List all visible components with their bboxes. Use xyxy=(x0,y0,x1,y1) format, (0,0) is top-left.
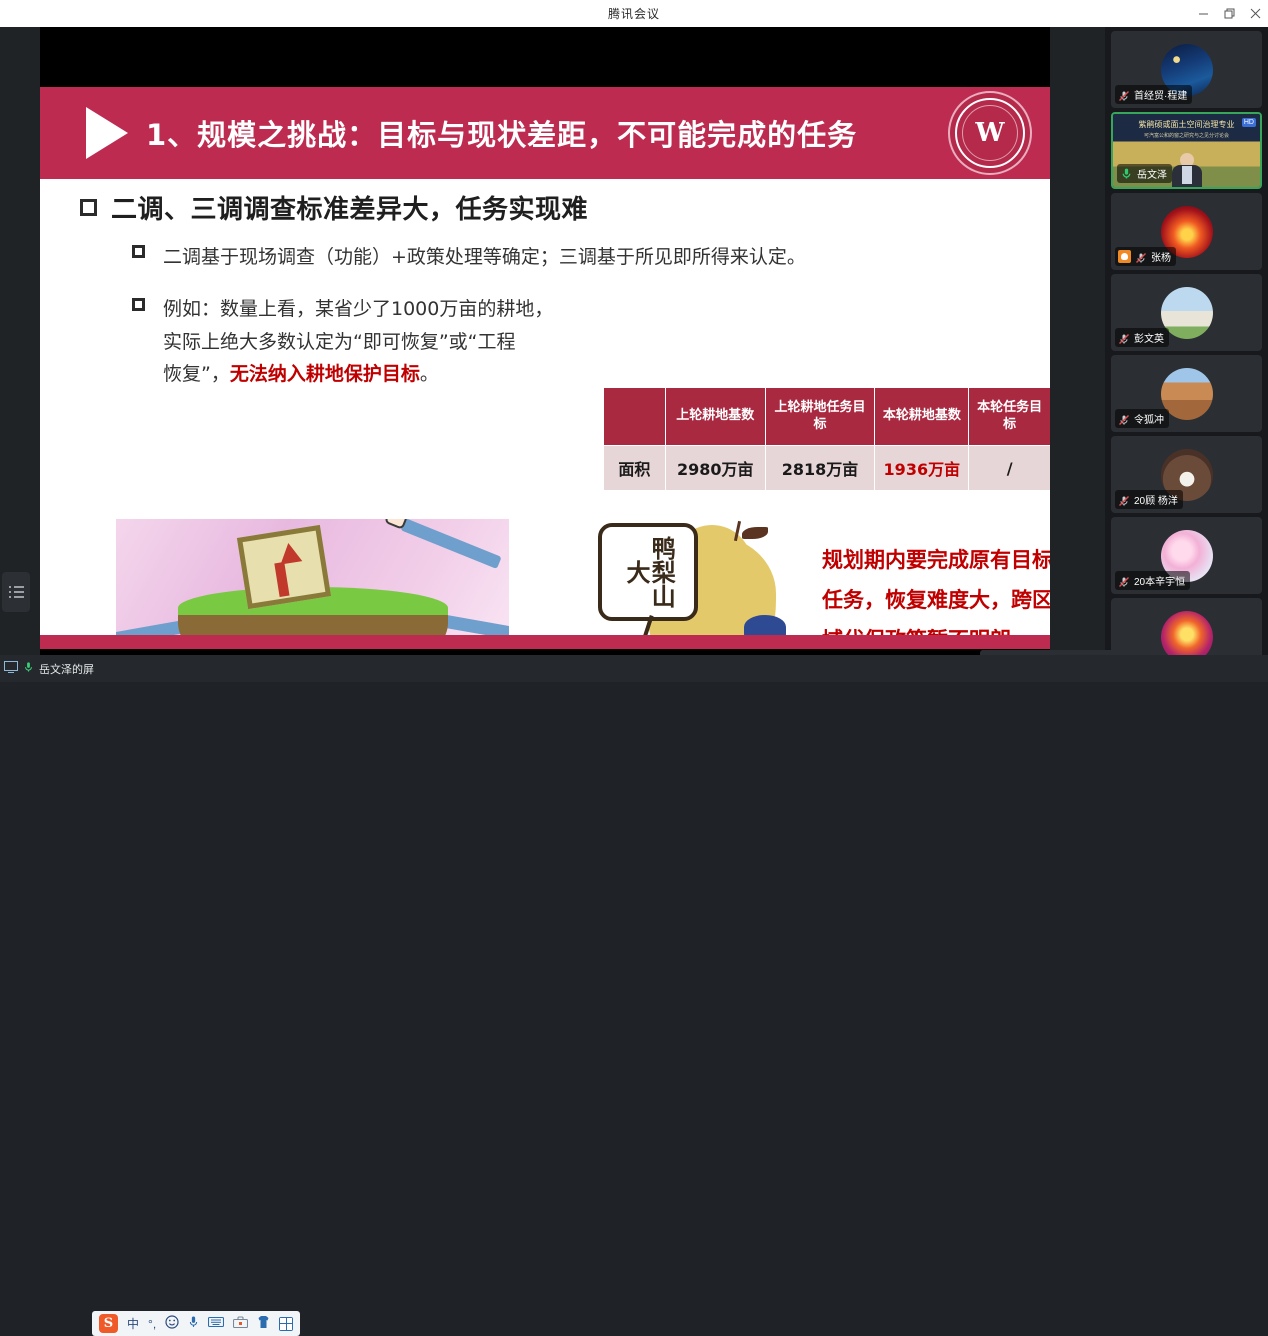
ime-voice-icon[interactable] xyxy=(188,1315,199,1332)
participant-name: 首经贸·程建 xyxy=(1134,87,1187,102)
ime-toolbox-icon[interactable] xyxy=(233,1316,248,1331)
participant-tile[interactable]: 20本辛宇恒 xyxy=(1111,517,1262,594)
ime-keyboard-icon[interactable] xyxy=(208,1316,224,1331)
minimize-icon[interactable] xyxy=(1190,0,1216,27)
window-controls xyxy=(1190,0,1268,27)
participant-nametag: 令狐冲 xyxy=(1115,409,1169,428)
mic-muted-icon xyxy=(1118,89,1130,101)
bullet-2-line-3-prefix: 恢复”， xyxy=(163,363,230,385)
table-cell-value-1: 2818万亩 xyxy=(765,446,875,491)
sogou-logo-icon[interactable]: S xyxy=(99,1314,118,1333)
participant-nametag: 20顾 杨洋 xyxy=(1115,490,1183,509)
arm-icon xyxy=(400,519,501,569)
panel-toggle-button[interactable] xyxy=(2,572,30,612)
table-header-row: 上轮耕地基数 上轮耕地任务目标 本轮耕地基数 本轮任务目标 xyxy=(604,388,1051,446)
monitor-icon xyxy=(4,661,18,676)
slide-title: 1、规模之挑战：目标与现状差距，不可能完成的任务 xyxy=(146,112,857,154)
participant-name: 20本辛宇恒 xyxy=(1134,573,1185,588)
mic-on-icon xyxy=(1120,167,1133,180)
table-header-cell-3: 本轮耕地基数 xyxy=(875,388,969,446)
participant-tile[interactable]: 彭文英 xyxy=(1111,274,1262,351)
slide-body: 二调、三调调查标准差异大，任务实现难 二调基于现场调查（功能）+政策处理等确定；… xyxy=(40,179,1050,649)
play-triangle-icon xyxy=(86,107,128,159)
table-cell-value-0: 2980万亩 xyxy=(665,446,765,491)
table-header-cell-4: 本轮任务目标 xyxy=(969,388,1050,446)
bullet-2-line-2: 实际上绝大多数认定为“即可恢复”或“工程 xyxy=(163,331,516,353)
app-title: 腾讯会议 xyxy=(608,5,660,22)
participant-name: 令狐冲 xyxy=(1134,411,1164,426)
participant-name: 彭文英 xyxy=(1134,330,1164,345)
speech-bubble: 鸭梨山大 xyxy=(598,523,698,621)
window-title-bar: 腾讯会议 xyxy=(0,0,1268,27)
slide-heading: 二调、三调调查标准差异大，任务实现难 xyxy=(80,189,588,226)
slide-header: 1、规模之挑战：目标与现状差距，不可能完成的任务 W xyxy=(40,87,1050,179)
participant-name: 20顾 杨洋 xyxy=(1134,492,1178,507)
participant-tile[interactable] xyxy=(1111,598,1262,655)
ime-mode-button[interactable]: 中 xyxy=(127,1315,139,1332)
participant-nametag: 20本辛宇恒 xyxy=(1115,571,1190,590)
speech-bubble-text: 鸭梨山大 xyxy=(623,535,673,609)
mic-muted-icon xyxy=(1118,494,1130,506)
video-overlay-subtitle: 可汽富公和的窗之研究与之见分讨论会 xyxy=(1113,132,1260,139)
mic-muted-icon xyxy=(1118,413,1130,425)
video-quality-badge: HD xyxy=(1242,118,1256,127)
emblem-mark: W xyxy=(975,120,1004,146)
bullet-item-1: 二调基于现场调查（功能）+政策处理等确定；三调基于所见即所得来认定。 xyxy=(132,245,806,271)
list-icon xyxy=(9,583,24,601)
ime-emoji-icon[interactable] xyxy=(165,1315,179,1332)
land-survey-cartoon: 土地调查 xyxy=(116,519,509,649)
participant-tile[interactable]: 张杨 xyxy=(1111,193,1262,270)
participant-name: 张杨 xyxy=(1151,249,1171,264)
participant-nametag: 岳文泽 xyxy=(1117,164,1172,183)
table-cell-value-2: 1936万亩 xyxy=(875,446,969,491)
callout-line-1: 规划期内要完成原有目标 xyxy=(822,541,1050,581)
table-row: 面积 2980万亩 2818万亩 1936万亩 / xyxy=(604,446,1051,491)
ime-punctuation-button[interactable]: °, xyxy=(148,1317,156,1331)
ime-toolbar[interactable]: S 中 °, xyxy=(92,1311,300,1336)
participant-nametag: 张杨 xyxy=(1115,247,1176,266)
host-badge-icon xyxy=(1118,250,1131,263)
comparison-table: 上轮耕地基数 上轮耕地任务目标 本轮耕地基数 本轮任务目标 面积 2980万亩 … xyxy=(603,387,1050,491)
table-header-cell-2: 上轮耕地任务目标 xyxy=(765,388,875,446)
square-bullet-icon xyxy=(132,245,145,258)
video-overlay-title: 紫鹃硕或面土空间治理专业 xyxy=(1113,119,1260,130)
bullet-2-line-1: 例如：数量上看，某省少了1000万亩的耕地， xyxy=(163,298,553,320)
presentation-slide: 1、规模之挑战：目标与现状差距，不可能完成的任务 W 二调、三调调查标准差异大，… xyxy=(40,87,1050,649)
participant-tile-active-speaker[interactable]: 紫鹃硕或面土空间治理专业 可汽富公和的窗之研究与之见分讨论会 HD 岳文泽 xyxy=(1111,112,1262,189)
survey-board-icon xyxy=(237,525,331,609)
participant-nametag: 首经贸·程建 xyxy=(1115,85,1192,104)
participant-tile[interactable]: 20顾 杨洋 xyxy=(1111,436,1262,513)
slide-heading-text: 二调、三调调查标准差异大，任务实现难 xyxy=(111,189,588,226)
bullet-1-text: 二调基于现场调查（功能）+政策处理等确定；三调基于所见即所得来认定。 xyxy=(163,245,806,271)
mic-muted-icon xyxy=(1135,251,1147,263)
participant-tile[interactable]: 首经贸·程建 xyxy=(1111,31,1262,108)
pear-mascot-cartoon: 鸭梨山大 xyxy=(596,517,811,649)
participant-strip[interactable]: 首经贸·程建 紫鹃硕或面土空间治理专业 可汽富公和的窗之研究与之见分讨论会 HD… xyxy=(1105,27,1268,655)
meeting-stage: 1、规模之挑战：目标与现状差距，不可能完成的任务 W 二调、三调调查标准差异大，… xyxy=(0,27,1105,655)
bullet-2-text: 例如：数量上看，某省少了1000万亩的耕地， 实际上绝大多数认定为“即可恢复”或… xyxy=(163,293,553,391)
bullet-2-highlight: 无法纳入耕地保护目标 xyxy=(230,363,420,385)
table-cell-value-3: / xyxy=(969,446,1050,491)
bullet-item-2: 例如：数量上看，某省少了1000万亩的耕地， 实际上绝大多数认定为“即可恢复”或… xyxy=(132,293,602,391)
mic-icon xyxy=(23,661,34,676)
table-row-label: 面积 xyxy=(604,446,666,491)
screen-share-indicator[interactable]: 岳文泽的屏 xyxy=(4,658,94,679)
mic-muted-icon xyxy=(1118,575,1130,587)
square-bullet-icon xyxy=(80,199,97,216)
callout-line-2: 任务，恢复难度大，跨区 xyxy=(822,581,1050,621)
pear-leaf-icon xyxy=(742,527,768,539)
right-callout-text: 规划期内要完成原有目标 任务，恢复难度大，跨区 域代保政策暂不明朗。 xyxy=(822,541,1050,649)
bullet-2-line-3-suffix: 。 xyxy=(420,363,439,385)
shared-screen-frame: 1、规模之挑战：目标与现状差距，不可能完成的任务 W 二调、三调调查标准差异大，… xyxy=(40,27,1050,655)
participant-tile[interactable]: 令狐冲 xyxy=(1111,355,1262,432)
participant-nametag: 彭文英 xyxy=(1115,328,1169,347)
square-bullet-icon xyxy=(132,298,145,311)
table-header-cell-1: 上轮耕地基数 xyxy=(665,388,765,446)
ime-skin-icon[interactable] xyxy=(257,1315,270,1332)
ime-apps-icon[interactable] xyxy=(279,1317,293,1331)
slide-footer-bar xyxy=(40,635,1050,649)
mic-muted-icon xyxy=(1118,332,1130,344)
avatar xyxy=(1161,611,1213,656)
taskbar: 岳文泽的屏 S 中 °, xyxy=(0,655,1268,682)
zhejiang-university-public-affairs-emblem: W xyxy=(948,91,1032,175)
restore-icon[interactable] xyxy=(1216,0,1242,27)
screen-share-label: 岳文泽的屏 xyxy=(39,661,94,677)
participant-name: 岳文泽 xyxy=(1137,166,1167,181)
table-header-cell-0 xyxy=(604,388,666,446)
close-icon[interactable] xyxy=(1242,0,1268,27)
